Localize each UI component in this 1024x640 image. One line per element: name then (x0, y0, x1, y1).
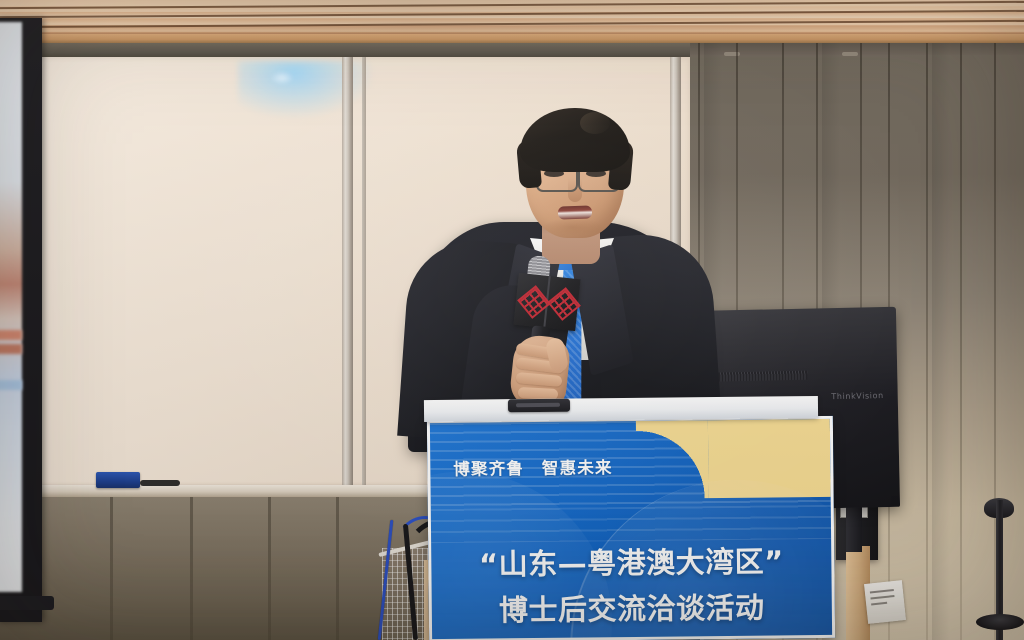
ceiling-groove (0, 1, 1024, 9)
banner-title-line1: “山东—粤港澳大湾区” (428, 538, 834, 584)
monitor-model-label: ThinkVision (831, 391, 884, 401)
speaker-person (430, 100, 730, 430)
curtain-pleat (926, 43, 928, 640)
whiteboard-divider-rail (362, 55, 366, 485)
curtain-shadow (932, 43, 958, 640)
wainscot-fold (190, 497, 193, 640)
paper-line (870, 595, 894, 599)
hair-highlight (580, 112, 610, 134)
ceiling-groove (0, 20, 1024, 28)
podium-banner: 博聚齐鲁 智惠未来 “山东—粤港澳大湾区” 博士后交流洽谈活动 (427, 416, 835, 640)
wainscot-fold (268, 497, 271, 640)
wainscot-fold (336, 497, 339, 640)
ceiling-soffit (18, 43, 690, 57)
wainscot-fold (110, 497, 113, 640)
light-reflection (238, 61, 378, 121)
projection-content-band (0, 380, 22, 390)
whiteboard-divider-rail (342, 55, 353, 485)
projection-screen (0, 22, 22, 592)
banner-title-line2: 博士后交流洽谈活动 (429, 584, 835, 630)
mic-stand-base (976, 614, 1024, 630)
curtain-pleat (960, 43, 962, 640)
light-spot (270, 71, 294, 85)
chin-shadow (542, 218, 604, 236)
projection-screen-foot (0, 596, 54, 610)
banner-tagline: 博聚齐鲁 智惠未来 (453, 454, 613, 480)
paper-note (864, 580, 906, 624)
wood-slat-ceiling (0, 0, 1024, 34)
mouth (558, 205, 592, 219)
paper-line (871, 602, 887, 605)
hair (520, 108, 630, 172)
whiteboard-marker (140, 480, 180, 486)
ceiling-groove (0, 10, 1024, 18)
remote-control-device[interactable] (508, 399, 570, 413)
projection-content-band (0, 344, 22, 354)
projection-content-band (0, 330, 22, 340)
conference-photo: Lenovo ThinkVision (0, 0, 1024, 640)
podium-top-surface (424, 396, 818, 422)
whiteboard-eraser (96, 472, 140, 488)
paper-line (870, 589, 894, 593)
ceiling-trim (0, 34, 1024, 43)
